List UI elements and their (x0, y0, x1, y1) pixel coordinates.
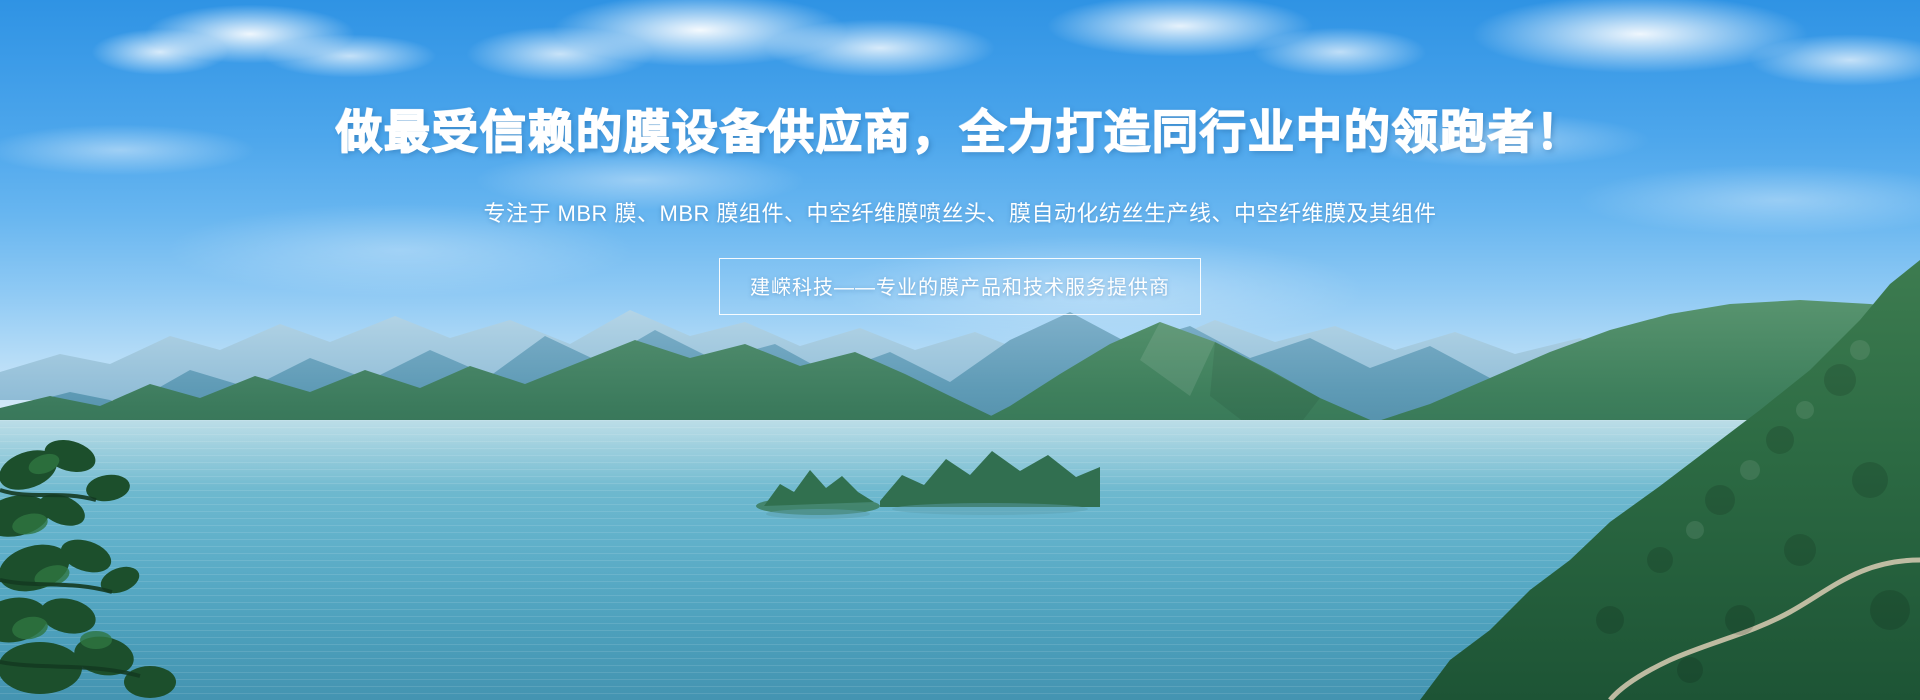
foreground-hillside-right (1360, 260, 1920, 700)
small-island (740, 430, 900, 520)
peninsula-island (880, 415, 1100, 515)
page-subtitle: 专注于 MBR 膜、MBR 膜组件、中空纤维膜喷丝头、膜自动化纺丝生产线、中空纤… (483, 196, 1436, 228)
hero-banner: 做最受信赖的膜设备供应商，全力打造同行业中的领跑者！ 专注于 MBR 膜、MBR… (0, 0, 1920, 700)
tagline-box: 建嵘科技——专业的膜产品和技术服务提供商 (719, 258, 1201, 315)
foreground-tree-branch-left (0, 430, 230, 700)
page-title: 做最受信赖的膜设备供应商，全力打造同行业中的领跑者！ (336, 96, 1584, 162)
